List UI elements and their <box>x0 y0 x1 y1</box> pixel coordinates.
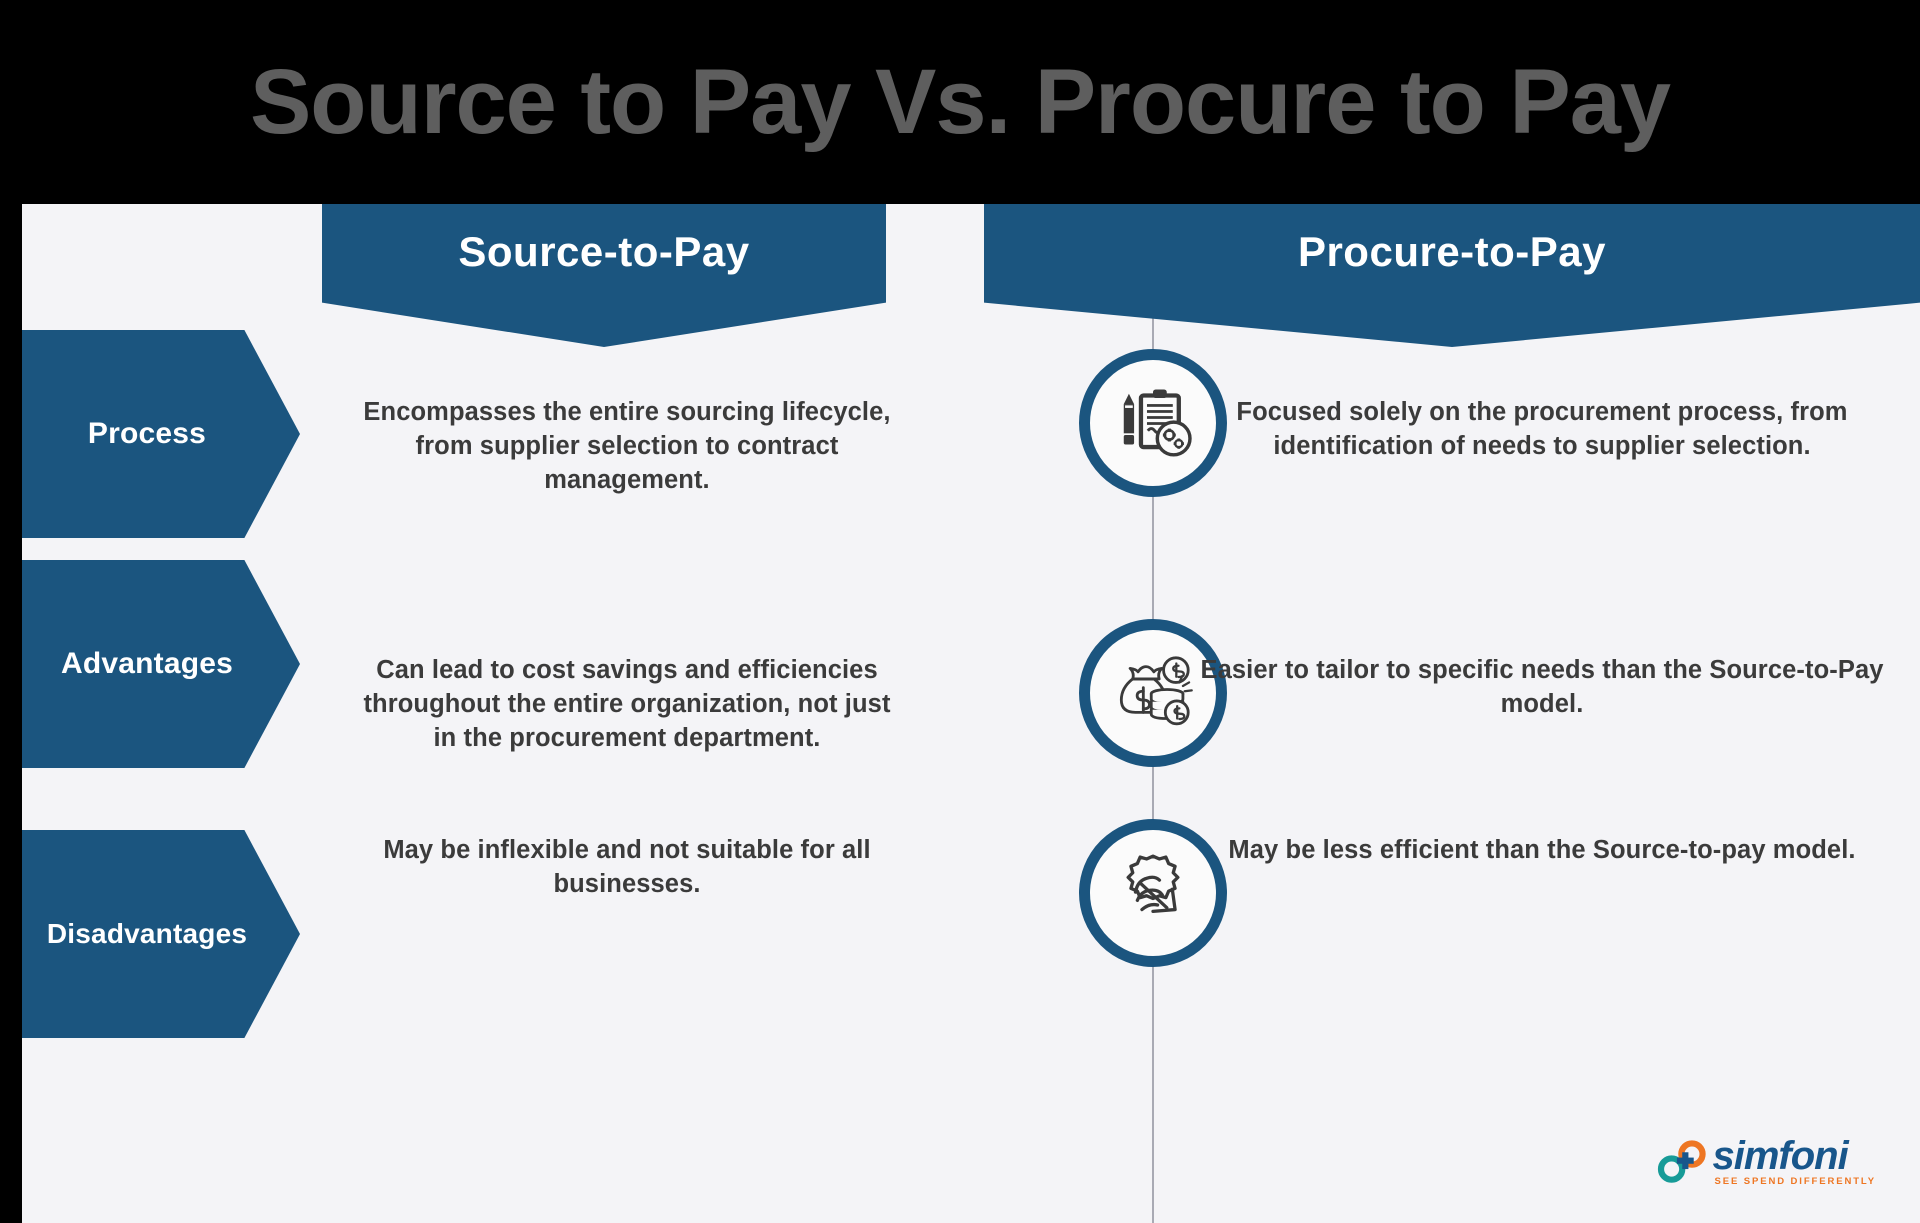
title-band: Source to Pay Vs. Procure to Pay <box>0 0 1920 204</box>
row-label-text: Disadvantages <box>47 918 275 950</box>
cell-left-advantages: Can lead to cost savings and efficiencie… <box>362 654 892 756</box>
column-header-label-left: Source-to-Pay <box>458 228 749 276</box>
table-row: Advantages Can lead to cost savings and … <box>22 524 1920 824</box>
row-label-advantages: Advantages <box>22 560 300 768</box>
infographic-canvas: Source to Pay Vs. Procure to Pay Source-… <box>0 0 1920 1223</box>
cell-left-disadvantages: May be inflexible and not suitable for a… <box>362 834 892 902</box>
logo-tagline: SEE SPEND DIFFERENTLY <box>1715 1176 1877 1187</box>
page-title: Source to Pay Vs. Procure to Pay <box>250 56 1670 148</box>
cell-right-disadvantages: May be less efficient than the Source-to… <box>1192 834 1892 868</box>
row-label-text: Advantages <box>61 647 261 681</box>
cell-right-process: Focused solely on the procurement proces… <box>1192 396 1892 464</box>
row-label-process: Process <box>22 330 300 538</box>
simfoni-logo: simfoni SEE SPEND DIFFERENTLY <box>1655 1137 1877 1187</box>
cell-left-process: Encompasses the entire sourcing lifecycl… <box>362 396 892 498</box>
logo-wordmark: simfoni <box>1713 1137 1848 1175</box>
simfoni-logo-mark <box>1655 1139 1713 1185</box>
cell-right-advantages: Easier to tailor to specific needs than … <box>1192 654 1892 722</box>
comparison-panel: Source-to-Pay Procure-to-Pay Process Enc… <box>22 204 1920 1223</box>
row-label-text: Process <box>88 417 234 451</box>
table-row: Disadvantages May be inflexible and not … <box>22 794 1920 1094</box>
row-label-disadvantages: Disadvantages <box>22 830 300 1038</box>
column-header-label-right: Procure-to-Pay <box>1298 228 1606 276</box>
